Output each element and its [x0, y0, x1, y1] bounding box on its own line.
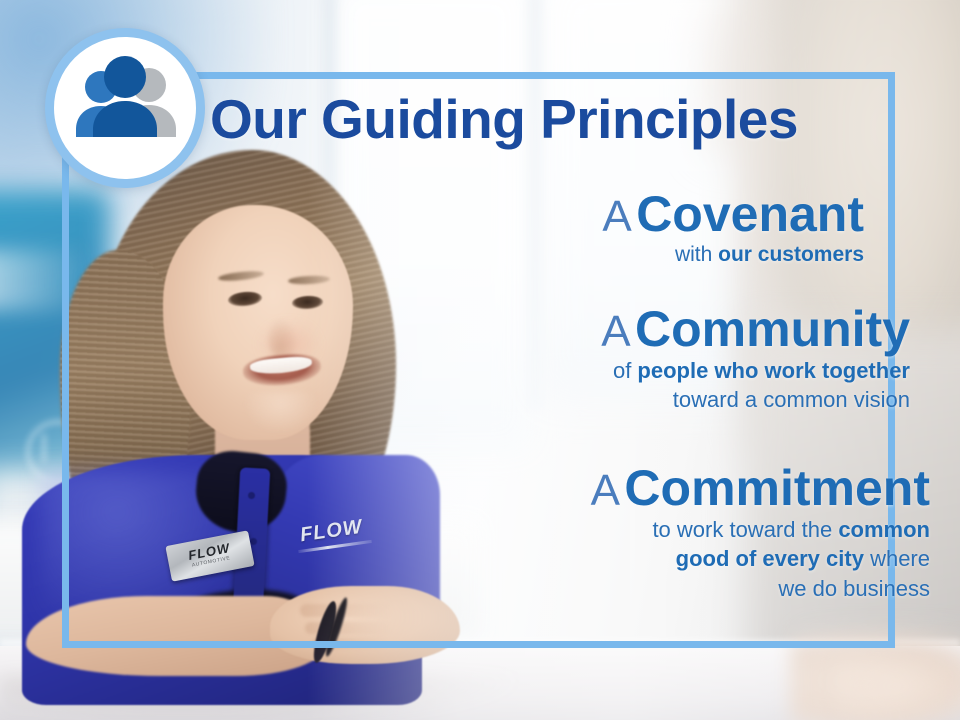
principle-community-article: A — [601, 307, 630, 356]
principle-commitment-title: A Commitment — [591, 462, 930, 515]
principle-community-word: Community — [635, 301, 910, 357]
principle-commitment-sub-line-3: we do business — [591, 574, 930, 604]
principle-commitment-sub-line-1: to work toward the common — [591, 515, 930, 545]
guiding-principles-graphic: FLOW AUTOMOTIVE FLOW — [0, 0, 960, 720]
principle-commitment: A Commitment to work toward the common g… — [591, 462, 930, 604]
people-group-icon — [45, 28, 205, 188]
principle-covenant-sub-a: with — [675, 243, 718, 266]
principle-commitment-article: A — [591, 466, 620, 515]
principle-commitment-sub-2b: where — [864, 546, 930, 571]
principle-community-sub-1a: of — [613, 358, 637, 383]
principle-covenant-title: A Covenant — [602, 188, 864, 241]
principle-covenant-sub-b: our customers — [718, 243, 864, 266]
principle-commitment-sub-line-2: good of every city where — [591, 544, 930, 574]
principle-community-sub-1b: people who work together — [637, 358, 910, 383]
principle-covenant-article: A — [602, 192, 631, 241]
principle-community-sub-line-2: toward a common vision — [601, 385, 910, 415]
principle-community: A Community of people who work together … — [601, 303, 910, 415]
principle-commitment-sub-2a: good of every city — [676, 546, 864, 571]
principle-commitment-word: Commitment — [624, 460, 930, 516]
principle-community-subtext: of people who work together toward a com… — [601, 356, 910, 415]
principle-covenant-word: Covenant — [636, 186, 864, 242]
principle-commitment-sub-1b: common — [838, 517, 930, 542]
principle-commitment-sub-1a: to work toward the — [652, 517, 838, 542]
page-title: Our Guiding Principles — [210, 92, 870, 147]
principle-covenant: A Covenant with our customers — [602, 188, 864, 269]
principle-commitment-subtext: to work toward the common good of every … — [591, 515, 930, 604]
principle-community-title: A Community — [601, 303, 910, 356]
principle-covenant-subtext: with our customers — [602, 241, 864, 269]
principle-community-sub-line-1: of people who work together — [601, 356, 910, 386]
